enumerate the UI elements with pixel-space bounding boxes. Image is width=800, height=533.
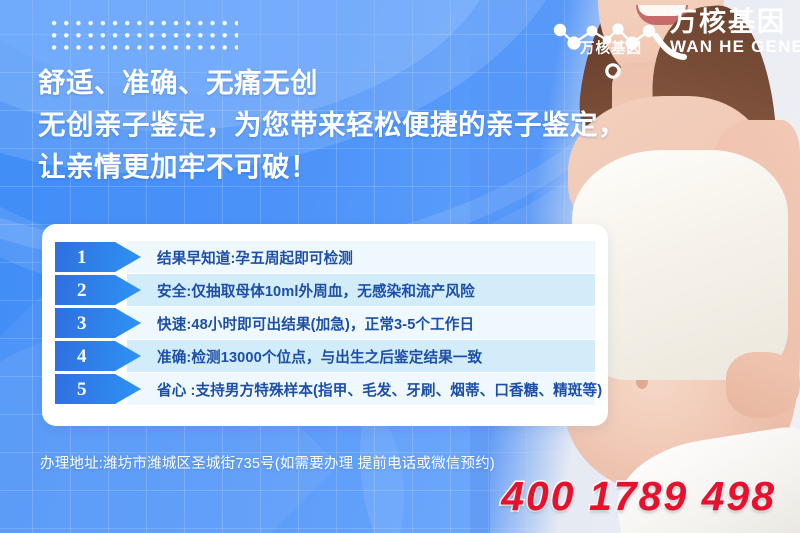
- phone-number: 400 1789 498: [501, 476, 776, 517]
- logo-ring-icon: [556, 62, 670, 80]
- brand-wordmark: 万核基因 WAN HE GENE: [670, 8, 794, 56]
- feature-text: 省心 :支持男方特殊样本(指甲、毛发、牙刷、烟蒂、口香糖、精斑等): [157, 379, 602, 400]
- feature-number: 1: [77, 248, 87, 267]
- headline-line-1: 舒适、准确、无痛无创: [38, 62, 618, 104]
- feature-row: 2安全:仅抽取母体10ml外周血，无感染和流产风险: [55, 274, 595, 306]
- feature-row: 3快速:48小时即可出结果(加急)，正常3-5个工作日: [55, 307, 595, 339]
- address-text: 办理地址:潍坊市潍城区圣城街735号(如需要办理 提前电话或微信预约): [40, 452, 495, 473]
- brand-logo: 万核基因 万核基因 WAN HE GENE: [552, 6, 792, 82]
- feature-text: 结果早知道:孕五周起即可检测: [157, 247, 353, 268]
- promo-poster: 万核基因 万核基因 WAN HE GENE 舒适、准确、无痛无创 无创亲子鉴定，…: [0, 0, 800, 533]
- feature-number: 2: [77, 281, 87, 300]
- feature-row: 4准确:检测13000个位点，与出生之后鉴定结果一致: [55, 340, 595, 372]
- headline-line-2: 无创亲子鉴定，为您带来轻松便捷的亲子鉴定，: [38, 104, 618, 146]
- feature-number: 5: [77, 380, 87, 399]
- photo-hand: [726, 352, 800, 418]
- feature-number: 3: [77, 314, 87, 333]
- feature-row: 1结果早知道:孕五周起即可检测: [55, 241, 595, 273]
- dot-grid-top: [48, 17, 238, 51]
- brand-name-en: WAN HE GENE: [670, 38, 794, 56]
- logo-mark-label: 万核基因: [554, 42, 668, 57]
- feature-list: 1结果早知道:孕五周起即可检测2安全:仅抽取母体10ml外周血，无感染和流产风险…: [55, 241, 595, 406]
- headline-block: 舒适、准确、无痛无创 无创亲子鉴定，为您带来轻松便捷的亲子鉴定， 让亲情更加牢不…: [38, 62, 618, 187]
- feature-card: 1结果早知道:孕五周起即可检测2安全:仅抽取母体10ml外周血，无感染和流产风险…: [42, 224, 608, 426]
- headline-line-3: 让亲情更加牢不可破！: [38, 146, 618, 188]
- feature-text: 准确:检测13000个位点，与出生之后鉴定结果一致: [157, 346, 482, 367]
- feature-text: 安全:仅抽取母体10ml外周血，无感染和流产风险: [157, 280, 475, 301]
- brand-name-cn: 万核基因: [670, 8, 794, 37]
- feature-number: 4: [77, 347, 87, 366]
- feature-text: 快速:48小时即可出结果(加急)，正常3-5个工作日: [157, 313, 474, 334]
- feature-row: 5省心 :支持男方特殊样本(指甲、毛发、牙刷、烟蒂、口香糖、精斑等): [55, 373, 595, 405]
